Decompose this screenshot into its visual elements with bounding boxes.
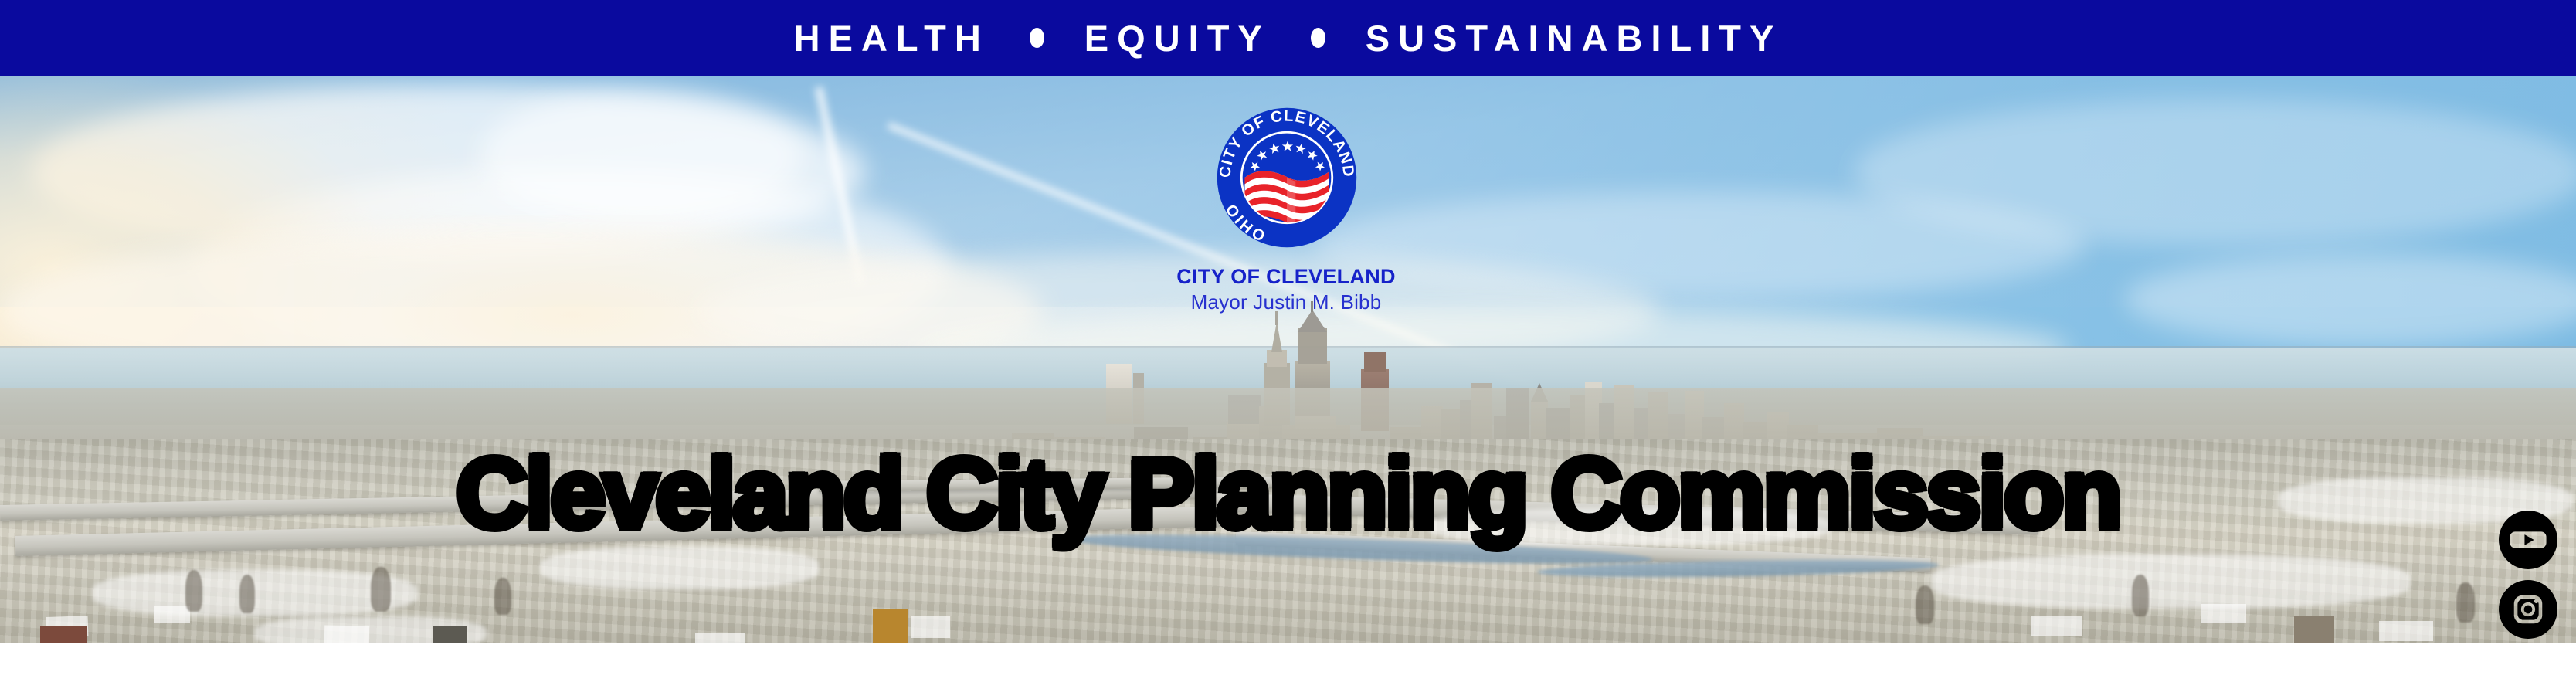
hero-photo: CITY OF CLEVELAND OHIO <box>0 76 2576 643</box>
org-name: CITY OF CLEVELAND <box>1027 265 1545 289</box>
building <box>433 626 467 643</box>
rooftop <box>324 625 369 643</box>
youtube-icon[interactable] <box>2499 511 2557 569</box>
snow-patch <box>541 547 819 589</box>
snow-patch <box>1429 508 1831 545</box>
bare-tree <box>494 578 511 615</box>
bare-tree <box>185 570 202 612</box>
bare-tree <box>2132 575 2149 616</box>
instagram-icon[interactable] <box>2499 580 2557 639</box>
page-root: HEALTH EQUITY SUSTAINABILITY <box>0 0 2576 682</box>
bare-tree <box>2456 582 2475 623</box>
rooftop <box>154 606 190 623</box>
building <box>40 626 87 643</box>
tagline-word-sustainability: SUSTAINABILITY <box>1366 20 1783 56</box>
social-links-rail <box>2499 511 2557 643</box>
tagline-separator-dot <box>1030 28 1044 48</box>
building <box>873 609 908 643</box>
tagline-word-health: HEALTH <box>794 20 989 56</box>
city-seal-graphic: CITY OF CLEVELAND OHIO <box>1214 105 1359 250</box>
city-seal: CITY OF CLEVELAND OHIO <box>1214 105 1359 253</box>
bare-tree <box>239 575 255 613</box>
bare-tree <box>371 567 391 612</box>
tagline-separator-dot <box>1311 28 1325 48</box>
snow-patch <box>93 570 417 616</box>
building <box>2294 616 2334 643</box>
rooftop <box>2201 604 2246 623</box>
tagline-word-equity: EQUITY <box>1084 20 1271 56</box>
rooftop <box>2379 621 2433 641</box>
snow-patch <box>1931 555 2410 609</box>
rooftop <box>911 616 950 638</box>
rooftop <box>2031 616 2082 636</box>
mayor-name: Mayor Justin M. Bibb <box>1027 290 1545 314</box>
rooftop <box>695 633 745 643</box>
tagline-banner: HEALTH EQUITY SUSTAINABILITY <box>0 0 2576 76</box>
bare-tree <box>1916 585 1934 624</box>
